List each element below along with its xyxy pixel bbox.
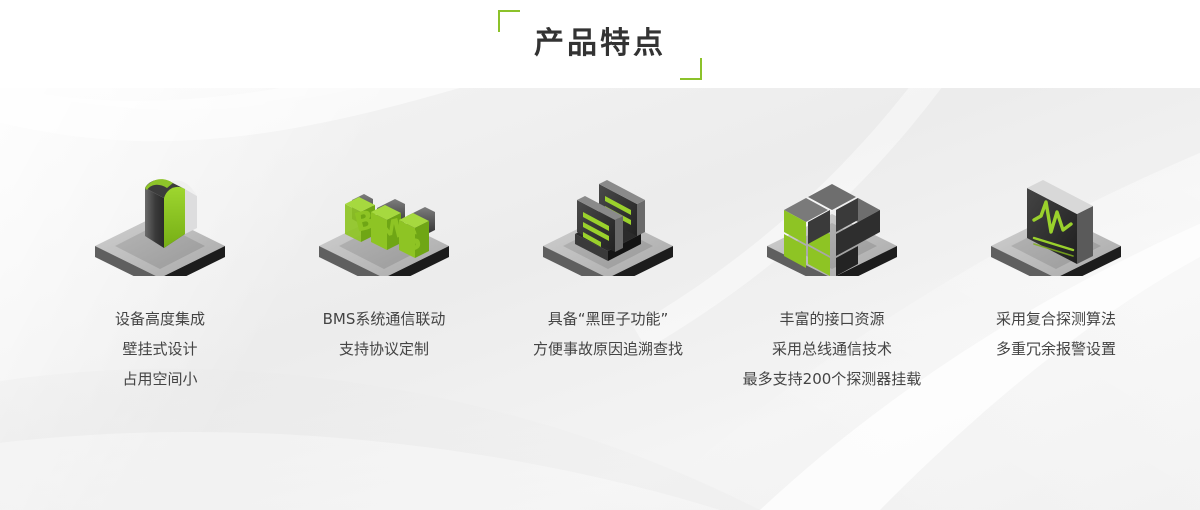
feature-labels: 采用复合探测算法 多重冗余报警设置 [926, 304, 1186, 364]
title-with-brackets: 产品特点 [494, 22, 706, 66]
feature-item[interactable]: 设备高度集成 壁挂式设计 占用空间小 [48, 88, 272, 394]
feature-label-line: 采用复合探测算法 [926, 304, 1186, 334]
feature-item[interactable]: 采用复合探测算法 多重冗余报警设置 [944, 88, 1168, 364]
feature-label-line: 设备高度集成 [30, 304, 290, 334]
modular-cube-icon [757, 158, 907, 276]
feature-labels: BMS系统通信联动 支持协议定制 [254, 304, 514, 364]
feature-label-line: 占用空间小 [30, 364, 290, 394]
product-features-page: 产品特点 [0, 0, 1200, 510]
features-row: 设备高度集成 壁挂式设计 占用空间小 [0, 88, 1200, 510]
feature-labels: 设备高度集成 壁挂式设计 占用空间小 [30, 304, 290, 394]
corner-bracket-top-left-icon [498, 10, 520, 32]
feature-label-line: 支持协议定制 [254, 334, 514, 364]
waveform-monitor-icon [981, 158, 1131, 276]
feature-item[interactable]: 丰富的接口资源 采用总线通信技术 最多支持200个探测器挂载 [720, 88, 944, 394]
feature-label-line: 最多支持200个探测器挂载 [682, 364, 982, 394]
feature-label-line: BMS系统通信联动 [254, 304, 514, 334]
page-header: 产品特点 [0, 0, 1200, 88]
page-title: 产品特点 [534, 22, 666, 66]
corner-bracket-bottom-right-icon [680, 58, 702, 80]
feature-item[interactable]: B M S BMS系统通信联动 支持协议定制 [272, 88, 496, 364]
features-section: 设备高度集成 壁挂式设计 占用空间小 [0, 88, 1200, 510]
feature-label-line: 多重冗余报警设置 [926, 334, 1186, 364]
wall-mounted-device-icon [85, 158, 235, 276]
bms-letters-icon: B M S [309, 158, 459, 276]
feature-label-line: 壁挂式设计 [30, 334, 290, 364]
black-box-records-icon [533, 158, 683, 276]
